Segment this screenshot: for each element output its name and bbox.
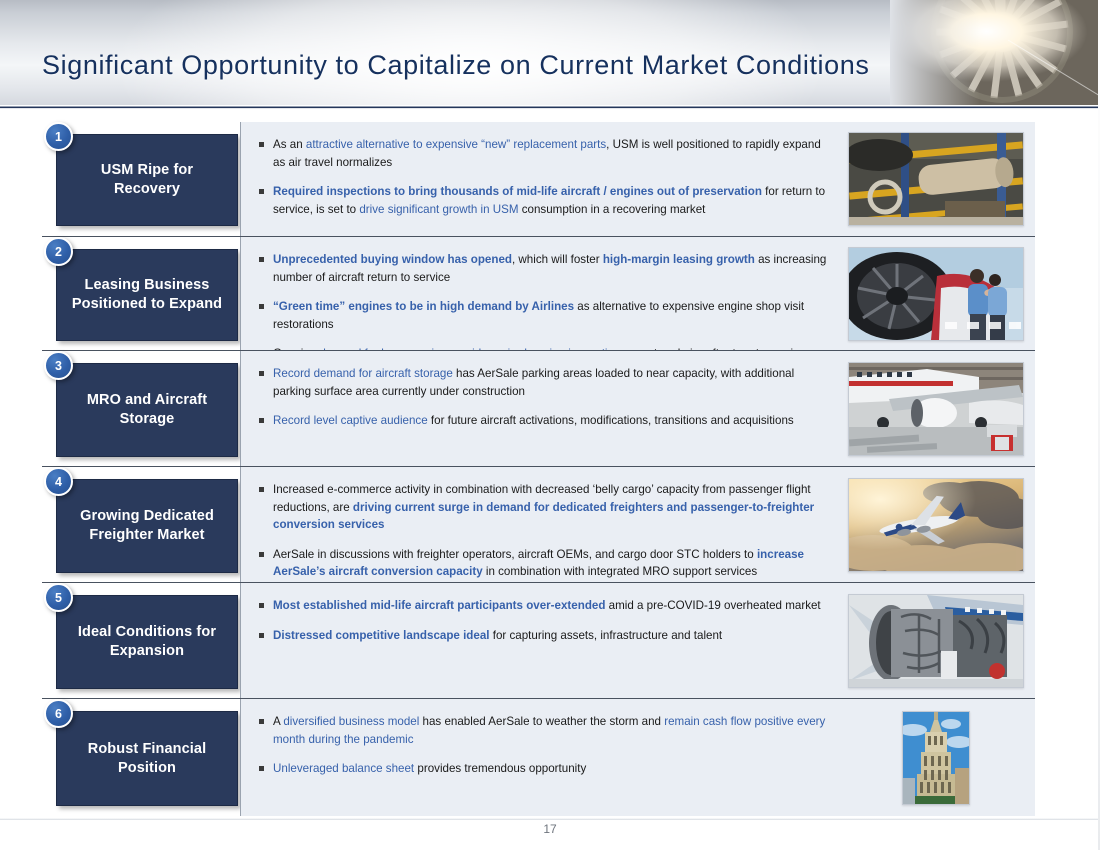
bullet-item: AerSale in discussions with freighter op…: [257, 546, 835, 581]
row-label-group: Growing Dedicated Freighter Market4: [42, 467, 238, 583]
bullet-highlight-text: high-margin leasing growth: [603, 253, 755, 266]
header-divider-secondary: [0, 110, 1100, 112]
bullet-list: Record demand for aircraft storage has A…: [241, 351, 845, 467]
row-label-group: Leasing Business Positioned to Expand2: [42, 237, 238, 351]
row-label-box[interactable]: Leasing Business Positioned to Expand: [56, 249, 238, 341]
row-label-group: Robust Financial Position6: [42, 699, 238, 816]
bullet-text: for capturing assets, infrastructure and…: [490, 629, 723, 642]
row-number-badge: 6: [44, 699, 73, 728]
row-label-text: Ideal Conditions for Expansion: [67, 623, 227, 661]
row-number-badge: 5: [44, 583, 73, 612]
content-row: MRO and Aircraft Storage3Record demand f…: [42, 350, 1035, 466]
slide-header: Significant Opportunity to Capitalize on…: [0, 0, 1100, 105]
bullet-highlight-text: driving current surge in demand for dedi…: [273, 501, 814, 532]
bullet-item: Unleveraged balance sheet provides treme…: [257, 760, 835, 778]
content-rows: USM Ripe for Recovery1As an attractive a…: [0, 114, 1100, 814]
row-label-box[interactable]: Ideal Conditions for Expansion: [56, 595, 238, 689]
row-content-panel: Most established mid-life aircraft parti…: [240, 583, 1035, 699]
row-label-text: Growing Dedicated Freighter Market: [67, 507, 227, 545]
bullet-highlight-text: diversified business model: [283, 715, 419, 728]
row-label-box[interactable]: MRO and Aircraft Storage: [56, 363, 238, 457]
row-label-text: USM Ripe for Recovery: [67, 161, 227, 199]
art-deco-office-tower-photo: [902, 711, 970, 805]
row-content-panel: Unprecedented buying window has opened, …: [240, 237, 1035, 351]
technicians-inspecting-jet-engine-photo: [848, 247, 1024, 341]
bullet-list: Unprecedented buying window has opened, …: [241, 237, 845, 351]
row-content-panel: A diversified business model has enabled…: [240, 699, 1035, 816]
page-title: Significant Opportunity to Capitalize on…: [42, 50, 870, 81]
footer-divider: [0, 818, 1100, 820]
row-number-text: 4: [55, 475, 62, 489]
bullet-highlight-text: Record level captive audience: [273, 414, 428, 427]
row-label-group: MRO and Aircraft Storage3: [42, 351, 238, 467]
row-thumbnail-cell: [845, 699, 1035, 816]
bullet-highlight-text: Distressed competitive landscape ideal: [273, 629, 490, 642]
bullet-text: amid a pre-COVID-19 overheated market: [605, 599, 820, 612]
row-label-text: Robust Financial Position: [67, 740, 227, 778]
bullet-item: Record demand for aircraft storage has A…: [257, 365, 835, 400]
row-thumbnail-cell: [845, 583, 1035, 699]
row-number-badge: 4: [44, 467, 73, 496]
row-label-group: USM Ripe for Recovery1: [42, 122, 238, 236]
row-label-group: Ideal Conditions for Expansion5: [42, 583, 238, 699]
content-row: Leasing Business Positioned to Expand2Un…: [42, 236, 1035, 350]
page-number: 17: [0, 822, 1100, 836]
turbine-engine-header-photo: [890, 0, 1100, 105]
row-number-text: 2: [55, 245, 62, 259]
row-number-text: 3: [55, 359, 62, 373]
row-number-text: 6: [55, 707, 62, 721]
row-number-badge: 1: [44, 122, 73, 151]
row-content-panel: Record demand for aircraft storage has A…: [240, 351, 1035, 467]
row-thumbnail-cell: [845, 237, 1035, 351]
bullet-text: AerSale in discussions with freighter op…: [273, 548, 757, 561]
bullet-highlight-text: Unprecedented buying window has opened: [273, 253, 512, 266]
bullet-text: in combination with integrated MRO suppo…: [483, 565, 758, 578]
row-thumbnail-cell: [845, 122, 1035, 236]
bullet-list: Most established mid-life aircraft parti…: [241, 583, 845, 699]
row-number-text: 1: [55, 130, 62, 144]
content-row: Growing Dedicated Freighter Market4Incre…: [42, 466, 1035, 582]
bullet-highlight-text: Required inspections to bring thousands …: [273, 185, 762, 198]
bullet-list: Increased e-commerce activity in combina…: [241, 467, 845, 583]
aircraft-in-maintenance-hangar-photo: [848, 362, 1024, 456]
bullet-text: , which will foster: [512, 253, 603, 266]
row-thumbnail-cell: [845, 467, 1035, 583]
bullet-item: Most established mid-life aircraft parti…: [257, 597, 835, 615]
row-label-box[interactable]: Growing Dedicated Freighter Market: [56, 479, 238, 573]
row-label-text: Leasing Business Positioned to Expand: [67, 276, 227, 314]
row-label-box[interactable]: Robust Financial Position: [56, 711, 238, 806]
row-content-panel: As an attractive alternative to expensiv…: [240, 122, 1035, 236]
bullet-highlight-text: Unleveraged balance sheet: [273, 762, 414, 775]
row-label-text: MRO and Aircraft Storage: [67, 391, 227, 429]
disassembled-turbofan-engine-photo: [848, 594, 1024, 688]
warehouse-engine-parts-storage-photo: [848, 132, 1024, 226]
bullet-text: has enabled AerSale to weather the storm…: [419, 715, 664, 728]
bullet-item: “Green time” engines to be in high deman…: [257, 298, 835, 333]
bullet-item: Required inspections to bring thousands …: [257, 183, 835, 218]
bullet-highlight-text: drive significant growth in USM: [359, 203, 518, 216]
bullet-text: consumption in a recovering market: [519, 203, 706, 216]
bullet-text: As an: [273, 138, 306, 151]
row-label-box[interactable]: USM Ripe for Recovery: [56, 134, 238, 226]
airliner-flying-above-golden-clouds-photo: [848, 478, 1024, 572]
row-number-text: 5: [55, 591, 62, 605]
row-number-badge: 3: [44, 351, 73, 380]
row-number-badge: 2: [44, 237, 73, 266]
bullet-text: A: [273, 715, 283, 728]
bullet-list: A diversified business model has enabled…: [241, 699, 845, 816]
bullet-item: Increased e-commerce activity in combina…: [257, 481, 835, 534]
bullet-list: As an attractive alternative to expensiv…: [241, 122, 845, 236]
content-row: Robust Financial Position6A diversified …: [42, 698, 1035, 815]
row-thumbnail-cell: [845, 351, 1035, 467]
bullet-item: A diversified business model has enabled…: [257, 713, 835, 748]
content-row: Ideal Conditions for Expansion5Most esta…: [42, 582, 1035, 698]
bullet-item: Unprecedented buying window has opened, …: [257, 251, 835, 286]
bullet-highlight-text: attractive alternative to expensive “new…: [306, 138, 606, 151]
row-content-panel: Increased e-commerce activity in combina…: [240, 467, 1035, 583]
bullet-text: for future aircraft activations, modific…: [428, 414, 794, 427]
bullet-item: Record level captive audience for future…: [257, 412, 835, 430]
content-row: USM Ripe for Recovery1As an attractive a…: [42, 122, 1035, 236]
bullet-highlight-text: Record demand for aircraft storage: [273, 367, 453, 380]
bullet-highlight-text: “Green time” engines to be in high deman…: [273, 300, 574, 313]
bullet-highlight-text: Most established mid-life aircraft parti…: [273, 599, 605, 612]
bullet-item: Distressed competitive landscape ideal f…: [257, 627, 835, 645]
bullet-text: provides tremendous opportunity: [414, 762, 586, 775]
bullet-item: As an attractive alternative to expensiv…: [257, 136, 835, 171]
